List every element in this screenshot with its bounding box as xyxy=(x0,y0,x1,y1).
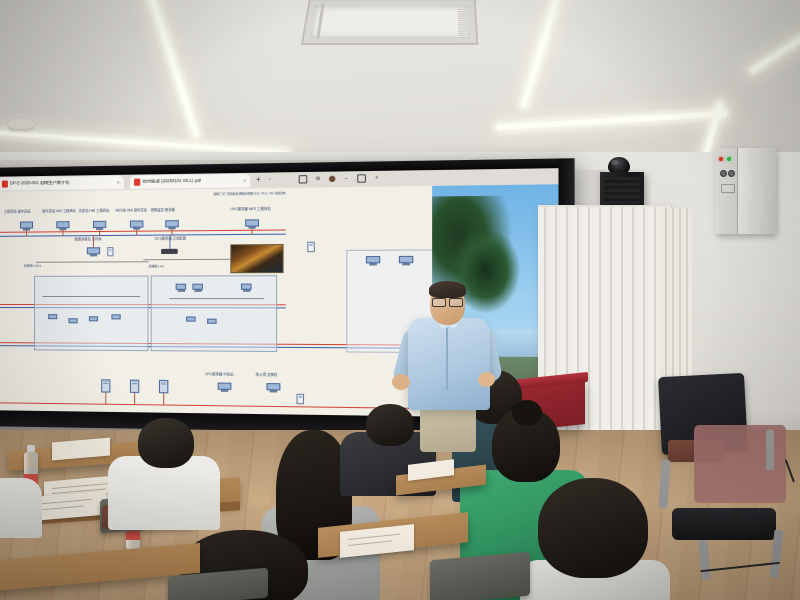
panel-meter xyxy=(721,184,735,193)
wall-control-panel[interactable] xyxy=(715,148,775,234)
bus-line-gray xyxy=(42,296,140,297)
status-led-red xyxy=(719,157,723,161)
bus-line-red xyxy=(0,229,286,233)
workstation-icon xyxy=(165,220,179,229)
hair-bun xyxy=(512,400,542,426)
presenter-placket xyxy=(446,328,448,390)
status-led-green xyxy=(727,157,731,161)
person-head xyxy=(138,418,194,468)
bus-line-blue xyxy=(0,234,286,238)
plant-photo xyxy=(230,244,283,273)
workstation-icon xyxy=(93,221,106,230)
presenter-hair xyxy=(429,281,466,298)
minimize-icon[interactable]: – xyxy=(343,176,350,182)
chair-leg xyxy=(766,430,774,470)
browser-tab-2[interactable]: 扬州能源 (20250101 V8.1) .pdf × xyxy=(130,174,251,189)
workstation-icon xyxy=(87,247,100,256)
close-icon[interactable]: × xyxy=(117,180,120,185)
air-vent-grille xyxy=(310,6,470,39)
node-label: 操作员站 HMI 工程师站 xyxy=(42,209,76,213)
chevron-down-icon[interactable]: ⌄ xyxy=(268,177,272,182)
server-icon xyxy=(159,380,168,393)
device-icon xyxy=(207,319,216,326)
workstation-icon xyxy=(130,220,143,229)
pdf-icon xyxy=(134,179,140,186)
device-icon xyxy=(89,316,98,323)
node-label: OPC服务器 MES 工程师站 xyxy=(230,207,270,212)
close-icon[interactable]: × xyxy=(243,178,246,183)
network-label: 控制网 LAN A xyxy=(24,265,41,269)
bus-line-gray xyxy=(36,261,149,263)
person-torso xyxy=(0,478,42,538)
device-icon xyxy=(111,314,120,321)
window-controls: ⚙ – × xyxy=(299,174,381,184)
presenter-right-hand xyxy=(478,372,495,387)
device-icon xyxy=(48,314,57,321)
workstation-icon xyxy=(399,256,413,266)
air-vent-icon xyxy=(301,0,479,45)
browser-tab-2-label: 扬州能源 (20250101 V8.1) .pdf xyxy=(142,179,201,184)
workstation-icon xyxy=(241,284,252,292)
presenter-shirt xyxy=(408,318,490,410)
screenshot-root: DP-E-2025-001 酒精生产数字化 × 扬州能源 (20250101 V… xyxy=(0,0,800,600)
presenter-glasses-icon xyxy=(432,298,463,305)
panel-knob[interactable] xyxy=(728,170,735,177)
panel-door[interactable] xyxy=(737,148,776,234)
workstation-icon xyxy=(218,383,232,392)
bus-line-red xyxy=(0,402,417,409)
switch-icon xyxy=(161,249,178,254)
presenter-left-hand xyxy=(392,374,410,390)
maximize-icon[interactable] xyxy=(357,174,366,183)
close-icon[interactable]: × xyxy=(374,175,381,181)
workstation-icon xyxy=(176,284,186,292)
person-head xyxy=(538,478,648,578)
firewall-icon xyxy=(307,242,315,252)
server-icon xyxy=(130,380,139,393)
diagram-note: 酒精厂全厂控制系统 网络结构图 DCS / PLC / SIS 系统架构 xyxy=(213,192,285,196)
extensions-icon[interactable] xyxy=(299,175,308,183)
device-icon xyxy=(186,317,195,324)
network-label: 管理网 LAN xyxy=(149,265,164,269)
node-label: OPC服务器 中控站 xyxy=(205,372,233,376)
chair-backrest[interactable] xyxy=(430,552,530,600)
workstation-icon xyxy=(56,221,69,230)
node-label: 工程师站 操作员站 xyxy=(4,209,30,213)
server-icon xyxy=(101,379,110,392)
node-label: 数据采集站 实时库 xyxy=(75,237,102,241)
node-label: 视频监控 服务器 xyxy=(151,208,175,212)
workstation-icon xyxy=(245,219,259,228)
gear-icon[interactable]: ⚙ xyxy=(315,176,321,182)
empty-chair-seat[interactable] xyxy=(672,508,776,540)
pdf-icon xyxy=(2,181,8,188)
diagram-group-2 xyxy=(151,275,278,352)
device-icon xyxy=(68,318,77,325)
firewall-icon xyxy=(297,394,305,405)
firewall-icon xyxy=(107,247,113,256)
dome-camera-icon xyxy=(608,157,630,173)
node-label: 防火墙 交换机 xyxy=(256,373,277,377)
workstation-icon xyxy=(266,383,280,392)
bottle-cap xyxy=(27,445,35,452)
workstation-icon xyxy=(20,221,33,230)
node-label: 历史站 HMI 工程师站 xyxy=(79,209,110,213)
person-head xyxy=(366,404,414,446)
browser-tab-1-label: DP-E-2025-001 酒精生产数字化 xyxy=(10,181,70,186)
workstation-icon xyxy=(366,256,380,266)
bus-line-gray xyxy=(169,298,264,299)
avatar[interactable] xyxy=(329,176,336,182)
browser-tab-1[interactable]: DP-E-2025-001 酒精生产数字化 × xyxy=(0,176,124,191)
new-tab-button[interactable]: + xyxy=(256,176,261,184)
panel-knob[interactable] xyxy=(720,170,727,177)
workstation-icon xyxy=(192,284,203,292)
node-label: MES站 HMI 操作员站 xyxy=(116,208,147,212)
smoke-detector-icon xyxy=(8,119,34,129)
